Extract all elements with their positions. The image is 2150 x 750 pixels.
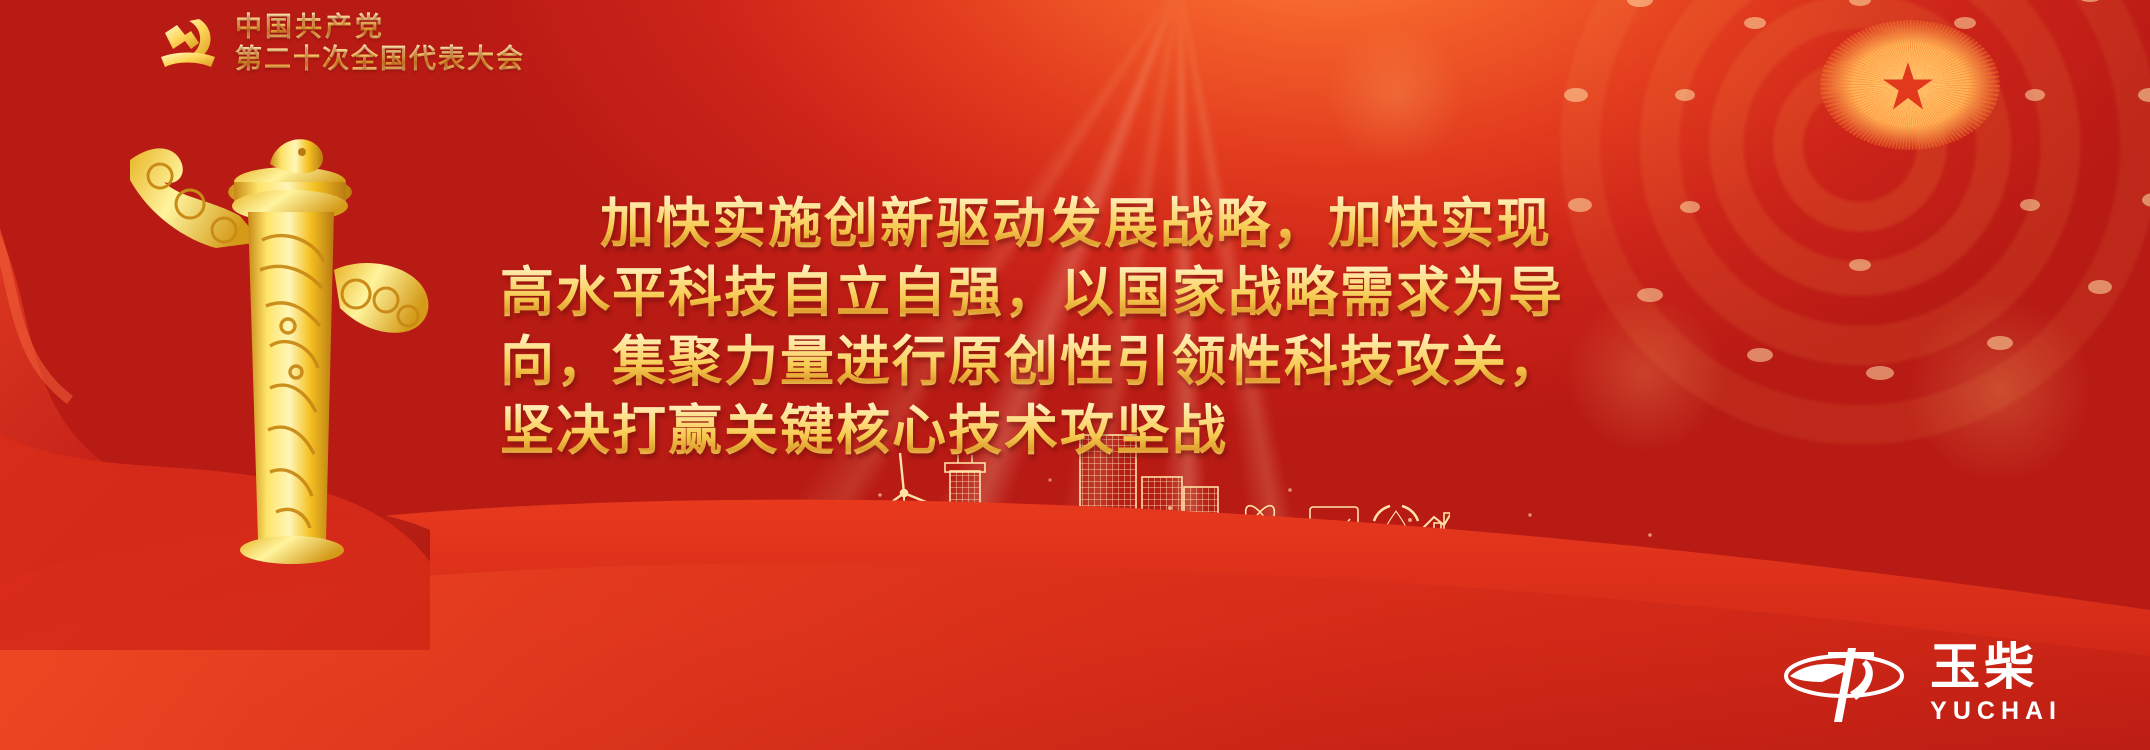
slogan-line-2: 高水平科技自立自强，以国家战略需求为导 [500, 259, 1730, 328]
congress-header-logo: 中国共产党 第二十次全国代表大会 [155, 12, 525, 74]
slogan-line-4: 坚决打赢关键核心技术攻坚战 [500, 397, 1730, 466]
slogan-block: 加快实施创新驱动发展战略，加快实现 高水平科技自立自强，以国家战略需求为导 向，… [500, 190, 1730, 466]
yuchai-logo: 玉柴 YUCHAI [1782, 642, 2062, 728]
yuchai-name-cn: 玉柴 [1930, 642, 2038, 692]
slogan-line-3: 向，集聚力量进行原创性引领性科技攻关， [500, 328, 1730, 397]
congress-title-line2: 第二十次全国代表大会 [235, 44, 525, 74]
slogan-line-1: 加快实施创新驱动发展战略，加快实现 [500, 190, 1730, 259]
congress-banner: 中国共产党 第二十次全国代表大会 加快实施创新驱动发展战略，加快实现 高水平科技… [0, 0, 2150, 750]
yuchai-wordmark: 玉柴 YUCHAI [1930, 642, 2062, 727]
hammer-and-sickle-emblem [155, 13, 221, 73]
congress-title-block: 中国共产党 第二十次全国代表大会 [235, 12, 525, 74]
yuchai-ellipse-mark [1782, 642, 1914, 728]
yuchai-name-en: YUCHAI [1930, 696, 2062, 727]
congress-title-line1: 中国共产党 [235, 12, 525, 42]
